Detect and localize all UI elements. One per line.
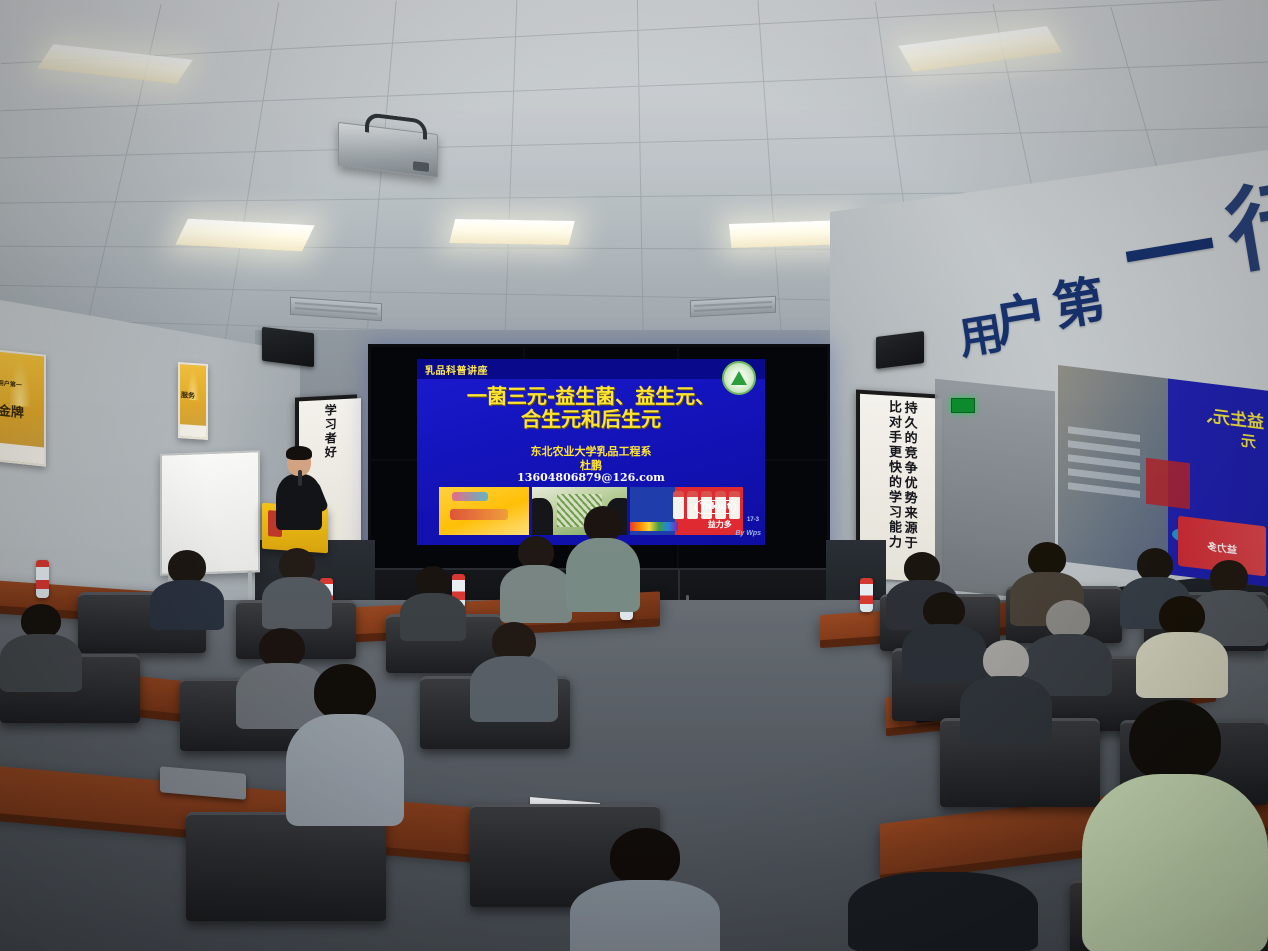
water-bottle <box>860 578 873 612</box>
presenter <box>272 448 326 528</box>
attendee-body <box>150 580 224 630</box>
reflected-red-panel <box>1146 458 1190 509</box>
slide-contact-email: 13604806879@126.com <box>417 471 765 484</box>
attendee-head <box>259 628 305 668</box>
attendee <box>848 872 1038 951</box>
lecture-hall-photo: 用 户 第 一 行 用户第一 金牌 服务 学习者好 持久的竞争优势来源于 比对手… <box>0 0 1268 951</box>
attendee-body <box>848 872 1038 951</box>
slide-header-text: 乳品科普讲座 <box>425 362 488 377</box>
poster-footer <box>180 425 206 438</box>
attendee-body <box>400 593 466 641</box>
wall-poster: 服务 <box>178 362 208 440</box>
reflected-brand-label: 益力多 <box>1207 538 1237 557</box>
emergency-exit-sign-icon <box>951 398 975 413</box>
yakult-brand-label: Yakult <box>695 500 737 514</box>
attendee <box>1136 596 1228 692</box>
reflected-text-block <box>1068 426 1140 513</box>
attendee-body <box>500 565 572 623</box>
attendee-body <box>960 676 1052 744</box>
attendee-body <box>566 538 640 612</box>
package-text-band <box>450 509 508 520</box>
attendee <box>500 536 572 622</box>
product-image-yakult: Yakult 益力多 <box>630 487 743 535</box>
attendee <box>0 604 82 688</box>
mirrored-title-line: 元 <box>1241 429 1256 452</box>
attendee <box>262 548 332 626</box>
attendee-head <box>1028 542 1066 576</box>
poster-line: 金牌 <box>0 399 24 421</box>
slide-title-line-2: 合生元和后生元 <box>417 408 765 431</box>
projector-lens-icon <box>413 161 429 172</box>
attendee-head <box>21 604 61 638</box>
attendee-head <box>1046 600 1090 638</box>
package-logo-icon <box>452 492 488 502</box>
attendee-head <box>983 640 1029 680</box>
wall-slogan-char: 一 <box>1113 173 1226 319</box>
attendee <box>570 828 720 951</box>
poster-footer <box>0 442 44 464</box>
slide-title: 一菌三元-益生菌、益生元、 合生元和后生元 <box>417 385 765 431</box>
poster-line: 服务 <box>181 390 195 401</box>
attendee-body <box>286 714 404 826</box>
attendee-head <box>610 828 680 886</box>
scroll-column: 持久的竞争优势来源于 <box>902 400 916 577</box>
attendee-head <box>1210 560 1248 594</box>
attendee-body <box>1136 632 1228 698</box>
attendee-body <box>570 880 720 951</box>
wall-poster: 用户第一 金牌 <box>0 349 46 466</box>
attendee-body <box>0 634 82 692</box>
yakult-chinese-label: 益力多 <box>708 519 732 530</box>
water-bottle <box>36 560 49 598</box>
wall-slogan-char: 第 <box>1047 258 1111 341</box>
poster-line: 用户第一 <box>0 378 22 390</box>
attendee-head <box>168 550 206 584</box>
attendee-head <box>584 506 622 542</box>
microphone-icon <box>298 470 302 486</box>
attendee <box>286 664 404 820</box>
slide-title-line-1: 一菌三元-益生菌、益生元、 <box>417 385 765 408</box>
attendee-head <box>923 592 965 628</box>
attendee-body <box>470 656 558 722</box>
hand-silhouette-icon <box>532 498 553 535</box>
wall-slogan-char: 行 <box>1215 146 1268 292</box>
presenter-hair <box>286 446 312 460</box>
attendee-head <box>1159 596 1205 636</box>
wall-speaker-left <box>262 327 314 367</box>
scroll-column: 比对手更快的学习能力 <box>886 399 900 576</box>
attendee-body <box>262 577 332 629</box>
slide-page-marker: 17-3 <box>747 517 759 523</box>
ceiling-light-panel <box>449 219 574 245</box>
wall-speaker-right <box>876 331 924 369</box>
attendee <box>400 566 466 638</box>
attendee <box>566 506 640 610</box>
attendee <box>1082 700 1268 951</box>
attendee-head <box>314 664 376 720</box>
product-image-package <box>439 487 529 535</box>
attendee <box>960 640 1052 738</box>
wall-slogan-char: 户 <box>988 273 1052 356</box>
attendee <box>470 622 558 718</box>
chair <box>186 812 386 921</box>
slide-watermark: By Wps <box>735 530 761 537</box>
attendee <box>150 550 224 626</box>
attendee-head <box>1129 700 1221 782</box>
attendee-body <box>1082 774 1268 951</box>
emblem-triangle-icon <box>731 371 747 385</box>
